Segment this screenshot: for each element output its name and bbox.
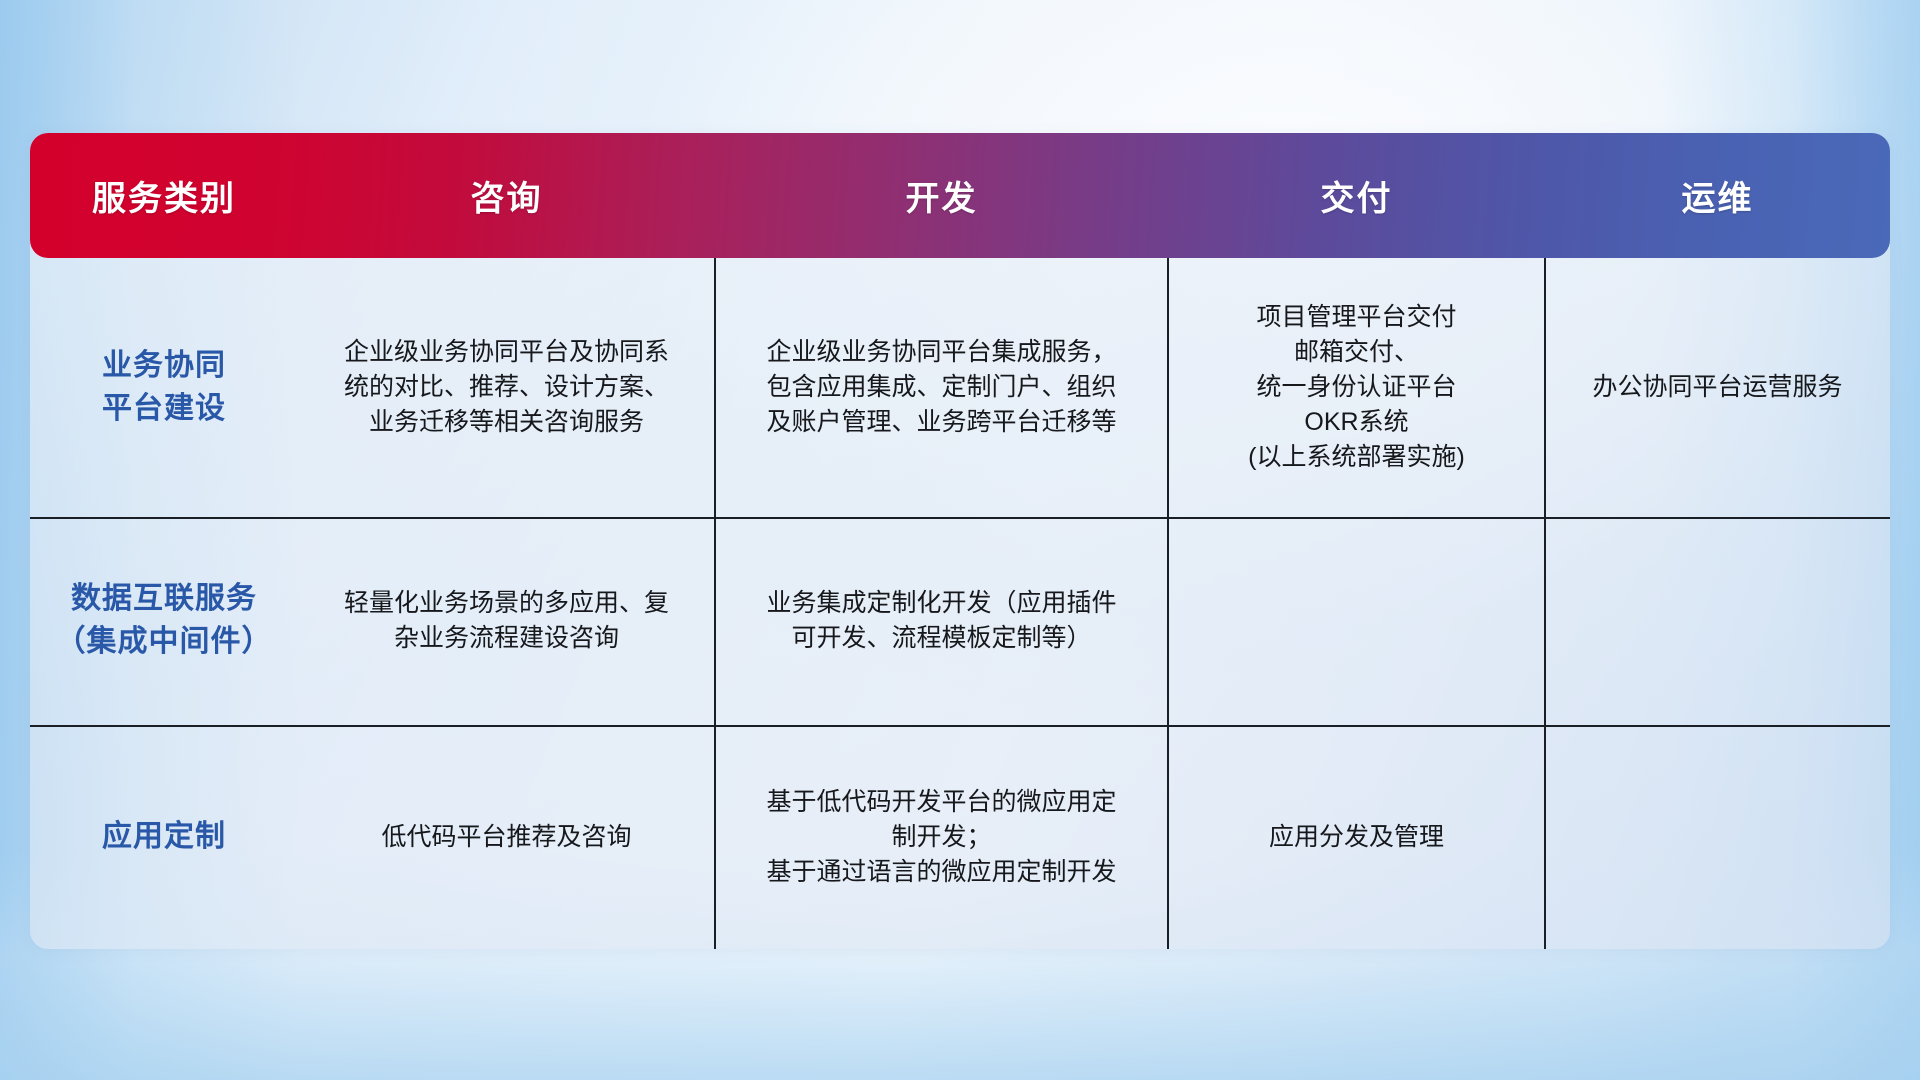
row-label-text: 应用定制 bbox=[102, 816, 226, 859]
cell-text: 低代码平台推荐及咨询 bbox=[381, 820, 631, 855]
cell-text: 项目管理平台交付 邮箱交付、 统一身份认证平台 OKR系统 (以上系统部署实施) bbox=[1248, 300, 1465, 475]
cell-development: 企业级业务协同平台集成服务， 包含应用集成、定制门户、组织 及账户管理、业务跨平… bbox=[715, 258, 1168, 517]
cell-development: 基于低代码开发平台的微应用定 制开发； 基于通过语言的微应用定制开发 bbox=[715, 725, 1168, 949]
cell-consulting: 轻量化业务场景的多应用、复 杂业务流程建设咨询 bbox=[298, 517, 715, 725]
column-header-consulting: 咨询 bbox=[298, 171, 715, 220]
row-label-cell: 业务协同 平台建设 bbox=[30, 258, 298, 517]
cell-text: 办公协同平台运营服务 bbox=[1592, 370, 1842, 405]
cell-consulting: 低代码平台推荐及咨询 bbox=[298, 725, 715, 949]
cell-text: 企业级业务协同平台及协同系 统的对比、推荐、设计方案、 业务迁移等相关咨询服务 bbox=[344, 335, 669, 440]
column-header-development: 开发 bbox=[715, 171, 1168, 220]
cell-operations bbox=[1545, 725, 1890, 949]
cell-consulting: 企业级业务协同平台及协同系 统的对比、推荐、设计方案、 业务迁移等相关咨询服务 bbox=[298, 258, 715, 517]
cell-delivery bbox=[1168, 517, 1545, 725]
cell-text: 轻量化业务场景的多应用、复 杂业务流程建设咨询 bbox=[344, 586, 669, 656]
row-label-cell: 数据互联服务 （集成中间件） bbox=[30, 517, 298, 725]
row-label-text: 业务协同 平台建设 bbox=[102, 345, 226, 430]
table-row: 业务协同 平台建设 企业级业务协同平台及协同系 统的对比、推荐、设计方案、 业务… bbox=[30, 258, 1890, 517]
cell-development: 业务集成定制化开发（应用插件 可开发、流程模板定制等） bbox=[715, 517, 1168, 725]
cell-delivery: 应用分发及管理 bbox=[1168, 725, 1545, 949]
table-body: 业务协同 平台建设 企业级业务协同平台及协同系 统的对比、推荐、设计方案、 业务… bbox=[30, 258, 1890, 949]
cell-operations: 办公协同平台运营服务 bbox=[1545, 258, 1890, 517]
cell-delivery: 项目管理平台交付 邮箱交付、 统一身份认证平台 OKR系统 (以上系统部署实施) bbox=[1168, 258, 1545, 517]
cell-text: 业务集成定制化开发（应用插件 可开发、流程模板定制等） bbox=[766, 586, 1116, 656]
column-header-delivery: 交付 bbox=[1168, 171, 1545, 220]
cell-text: 企业级业务协同平台集成服务， 包含应用集成、定制门户、组织 及账户管理、业务跨平… bbox=[766, 335, 1116, 440]
column-header-operations: 运维 bbox=[1545, 171, 1890, 220]
cell-operations bbox=[1545, 517, 1890, 725]
column-header-service-category: 服务类别 bbox=[30, 171, 298, 220]
table-header-row: 服务类别 咨询 开发 交付 运维 bbox=[30, 133, 1890, 258]
column-divider bbox=[714, 258, 716, 949]
cell-text: 基于低代码开发平台的微应用定 制开发； 基于通过语言的微应用定制开发 bbox=[766, 785, 1116, 890]
column-divider bbox=[1544, 258, 1546, 949]
cell-text: 应用分发及管理 bbox=[1269, 820, 1444, 855]
column-divider bbox=[1167, 258, 1169, 949]
table-row: 数据互联服务 （集成中间件） 轻量化业务场景的多应用、复 杂业务流程建设咨询 业… bbox=[30, 517, 1890, 725]
row-label-cell: 应用定制 bbox=[30, 725, 298, 949]
table-row: 应用定制 低代码平台推荐及咨询 基于低代码开发平台的微应用定 制开发； 基于通过… bbox=[30, 725, 1890, 949]
row-label-text: 数据互联服务 （集成中间件） bbox=[56, 578, 273, 663]
